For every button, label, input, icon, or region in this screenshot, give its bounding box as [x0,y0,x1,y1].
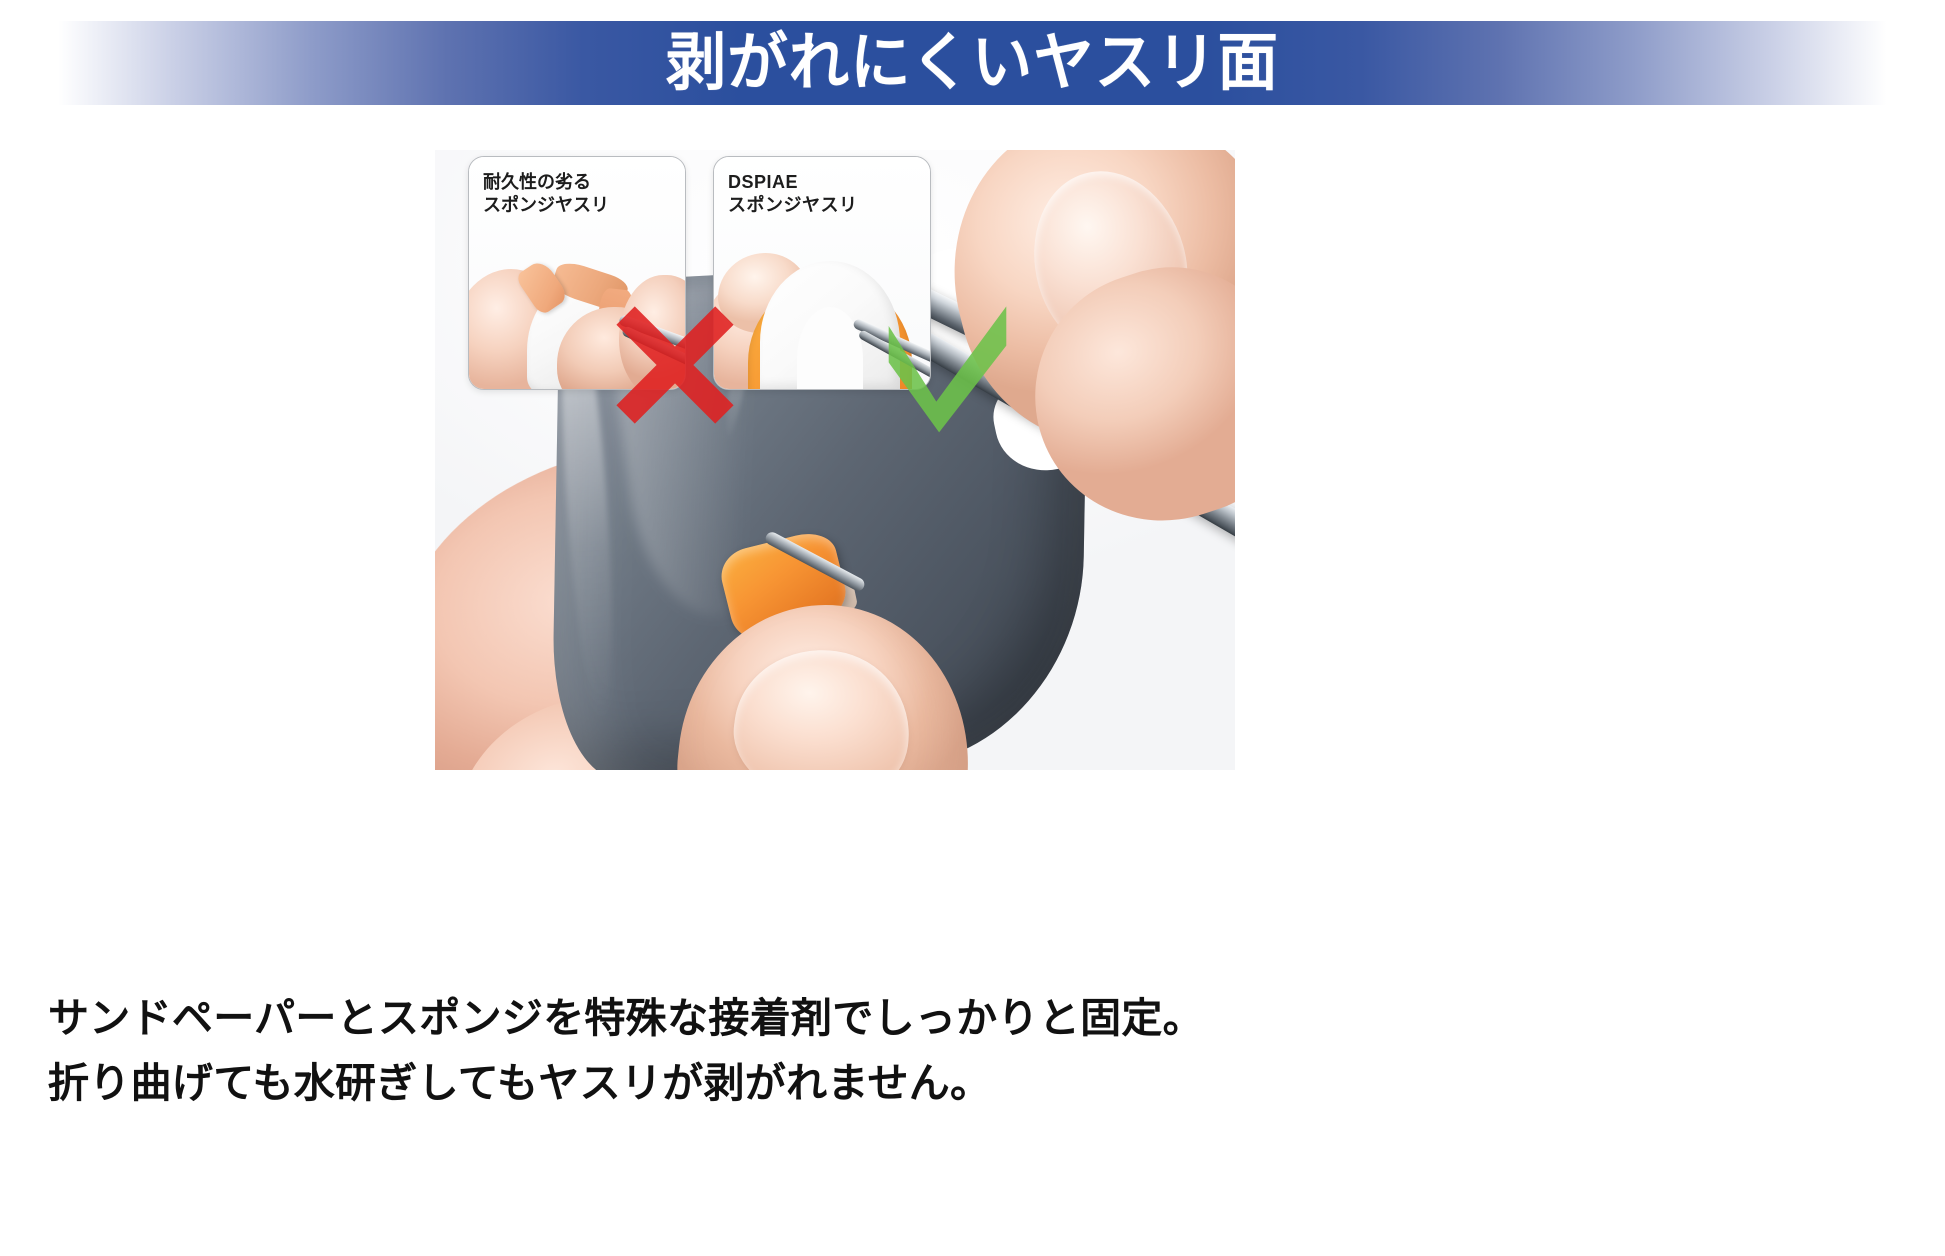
comparison-card-dspiae: DSPIAE スポンジヤスリ [713,156,931,390]
caption-line-2: 折り曲げても水研ぎしてもヤスリが剥がれません。 [48,1051,1348,1116]
comparison-card-inferior-label: 耐久性の劣る スポンジヤスリ [483,171,609,216]
comparison-card-dspiae-label: DSPIAE スポンジヤスリ [728,171,858,216]
page-title: 剥がれにくいヤスリ面 [666,32,1279,95]
header-banner: 剥がれにくいヤスリ面 [0,21,1945,105]
caption-line-1: サンドペーパーとスポンジを特殊な接着剤でしっかりと固定。 [48,986,1348,1051]
feature-caption: サンドペーパーとスポンジを特殊な接着剤でしっかりと固定。 折り曲げても水研ぎして… [48,986,1348,1116]
product-feature-page: 剥がれにくいヤスリ面 [0,0,1945,1256]
comparison-card-inferior: 耐久性の劣る スポンジヤスリ [468,156,686,390]
